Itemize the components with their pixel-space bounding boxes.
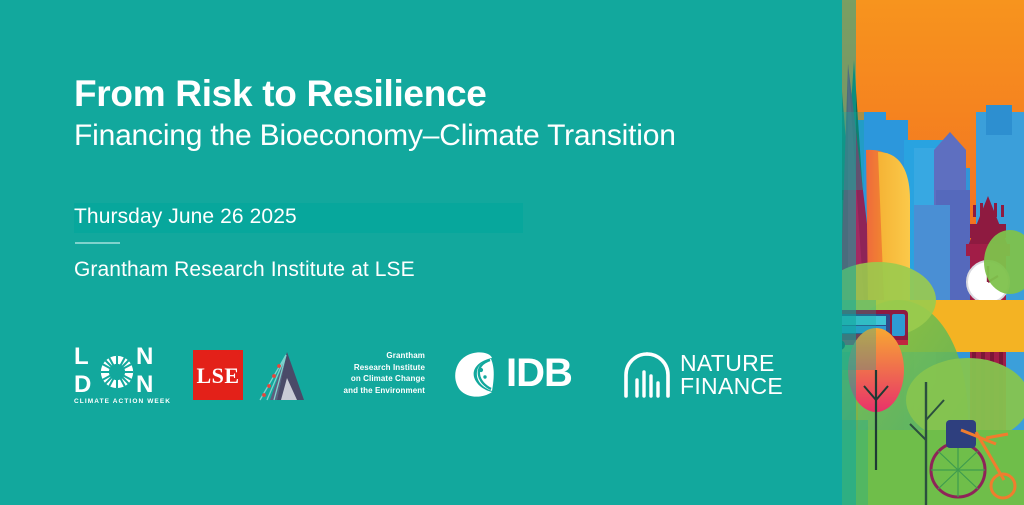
event-venue: Grantham Research Institute at LSE xyxy=(74,258,415,282)
grantham-line-1: Grantham xyxy=(315,350,425,362)
lse-label: LSE xyxy=(193,363,243,389)
logo-naturefinance: NATURE FINANCE xyxy=(622,348,802,404)
page-title: From Risk to Resilience xyxy=(74,74,487,114)
grantham-text: Grantham Research Institute on Climate C… xyxy=(315,350,425,396)
idb-label: IDB xyxy=(506,351,572,395)
event-date: Thursday June 26 2025 xyxy=(74,205,297,229)
lcaw-letter-l: L xyxy=(74,345,90,368)
divider xyxy=(75,242,120,244)
lcaw-letter-n-top: N xyxy=(136,345,154,368)
logo-lse: LSE xyxy=(193,350,243,400)
grantham-line-2: Research Institute xyxy=(315,362,425,374)
grantham-line-4: and the Environment xyxy=(315,385,425,397)
naturefinance-line-1: NATURE xyxy=(680,352,783,375)
idb-leaf-icon xyxy=(450,350,500,400)
naturefinance-text: NATURE FINANCE xyxy=(680,352,783,398)
logo-grantham-research-institute: Grantham Research Institute on Climate C… xyxy=(257,348,422,404)
event-banner: From Risk to Resilience Financing the Bi… xyxy=(0,0,1024,505)
london-skyline-illustration xyxy=(818,0,1024,505)
logo-london-climate-action-week: L N D N xyxy=(74,345,179,407)
lcaw-letter-n-bottom: N xyxy=(136,373,154,396)
lcaw-tagline: CLIMATE ACTION WEEK xyxy=(74,398,184,405)
banner-content: From Risk to Resilience Financing the Bi… xyxy=(0,0,818,505)
naturefinance-line-2: FINANCE xyxy=(680,375,783,398)
grantham-prism-icon xyxy=(257,348,312,404)
lcaw-letter-d: D xyxy=(74,373,92,396)
page-subtitle: Financing the Bioeconomy–Climate Transit… xyxy=(74,119,676,154)
grantham-line-3: on Climate Change xyxy=(315,373,425,385)
naturefinance-icon xyxy=(622,350,672,400)
logo-idb: IDB xyxy=(450,348,595,402)
skyline-svg xyxy=(818,0,1024,505)
sunburst-icon xyxy=(100,355,134,389)
